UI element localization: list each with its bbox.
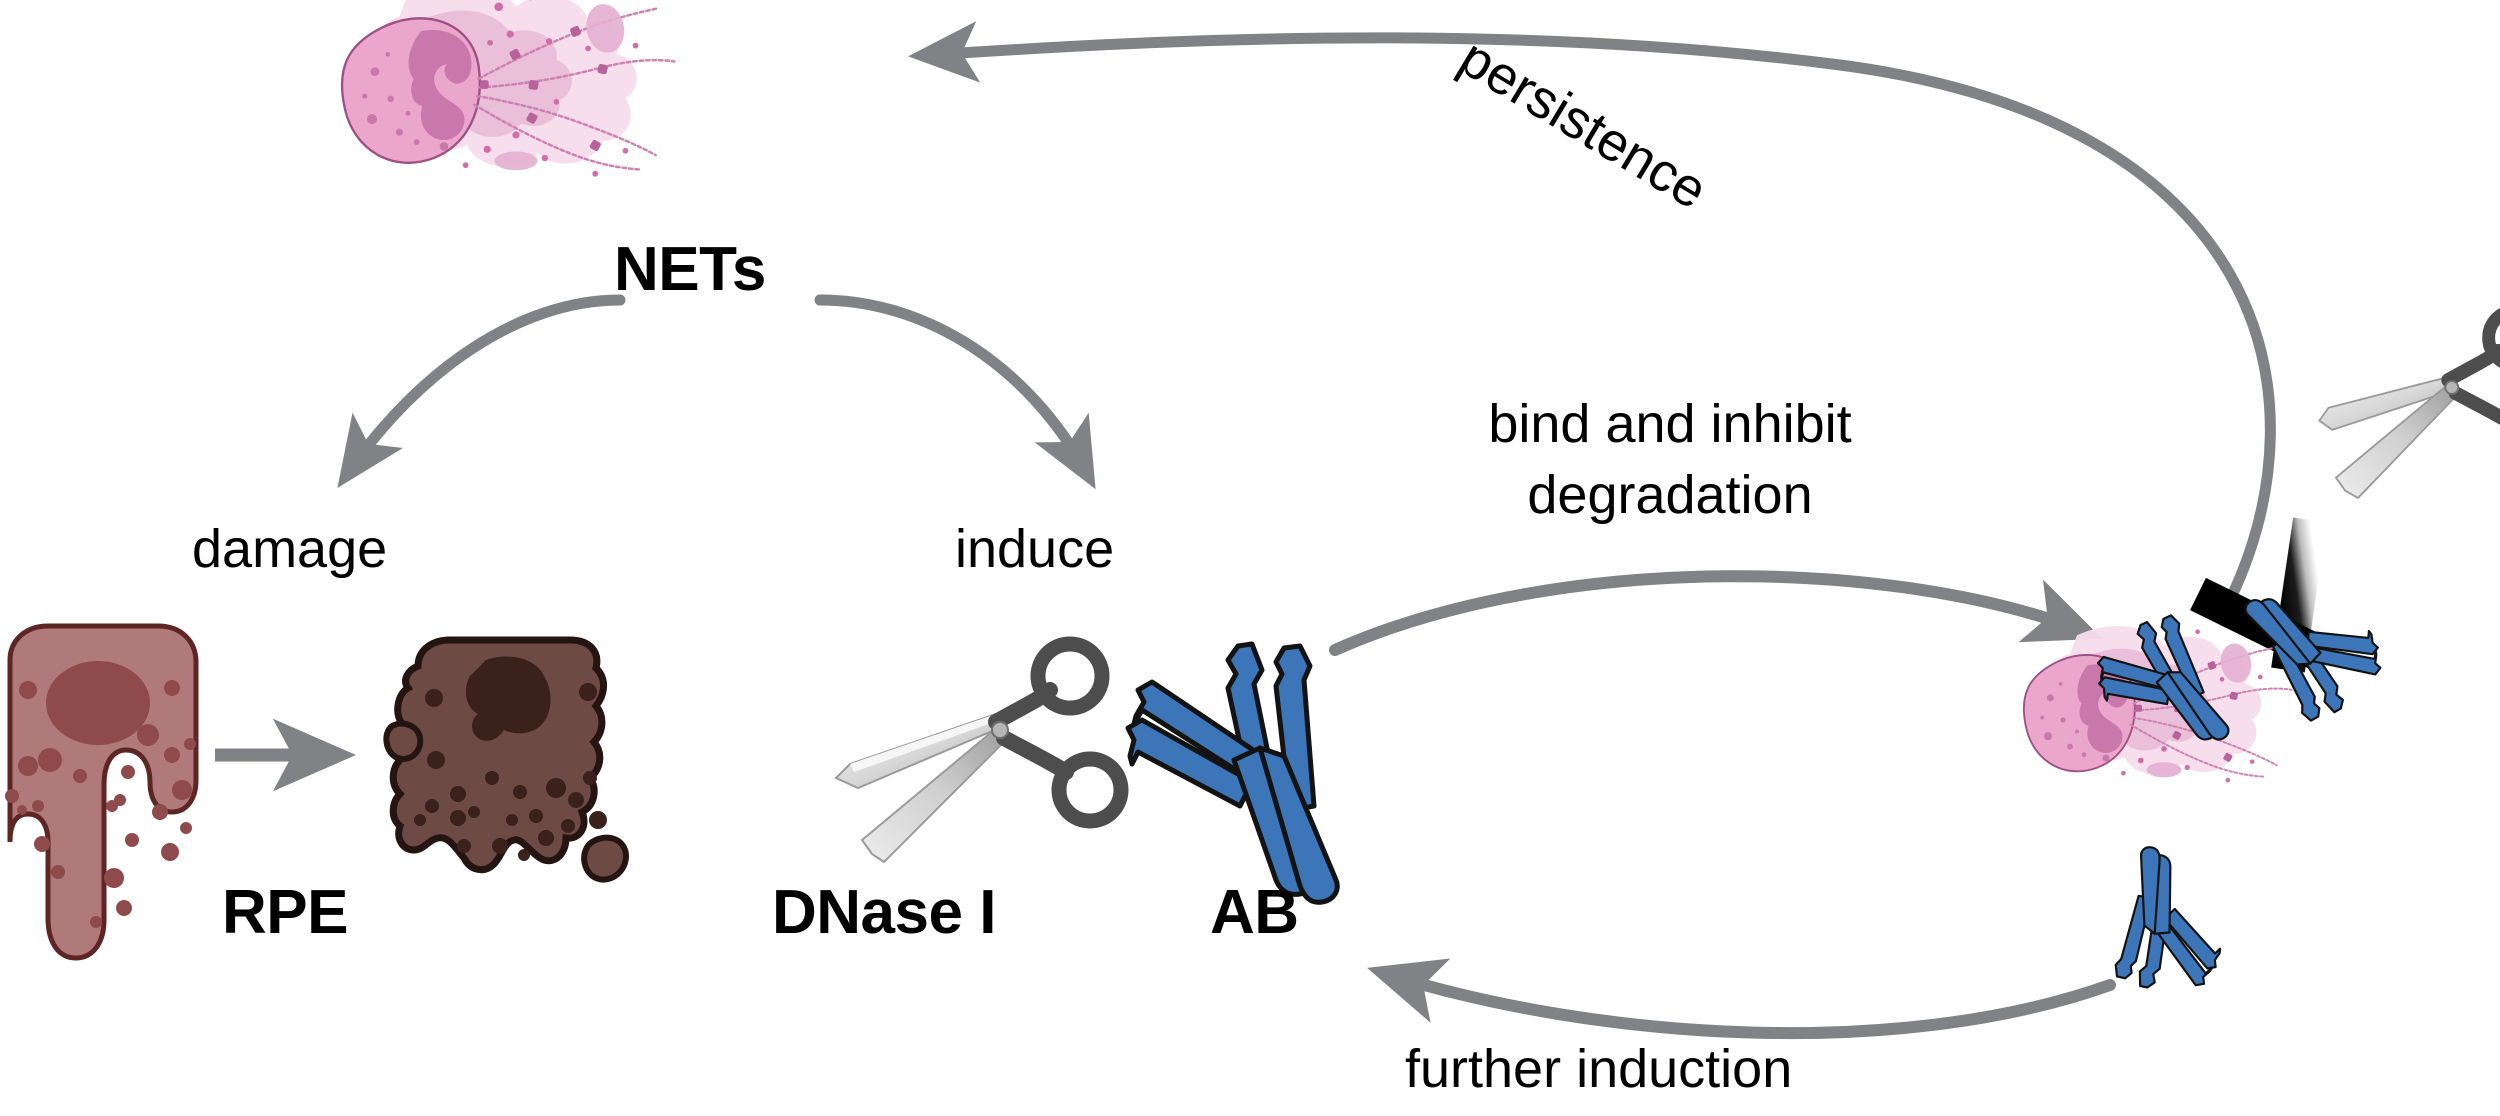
diagram-canvas: NETs damage induce RPE DNase I AB bind a… — [0, 0, 2500, 1116]
edge-label-bind-inhibit-line1: bind and inhibit — [1400, 395, 1940, 453]
node-label-dnase: DNase I — [772, 880, 996, 947]
node-label-nets: NETs — [614, 237, 824, 304]
rpe-cell-icon — [5, 626, 196, 958]
node-label-ab: AB — [1210, 880, 1299, 947]
arrow-nets-to-dnase — [820, 300, 1085, 470]
antibody-icon — [1128, 644, 1337, 902]
arrow-nets-to-rpe — [350, 300, 620, 470]
edge-label-induce: induce — [955, 520, 1114, 578]
scissors-blocked-icon — [2319, 310, 2500, 498]
edge-label-bind-inhibit-line2: degradation — [1400, 466, 1940, 524]
scissors-icon — [836, 644, 1121, 862]
rpe-damaged-cell-icon — [386, 640, 626, 880]
nets-neutrophil-icon — [342, 0, 674, 177]
node-label-rpe: RPE — [222, 880, 348, 947]
arrow-complex-to-ab-further-induction — [1390, 975, 2110, 1033]
arrow-ab-to-complex — [1335, 576, 2080, 650]
edge-label-damage: damage — [192, 520, 387, 578]
edge-label-further-induction: further induction — [1405, 1040, 1792, 1098]
